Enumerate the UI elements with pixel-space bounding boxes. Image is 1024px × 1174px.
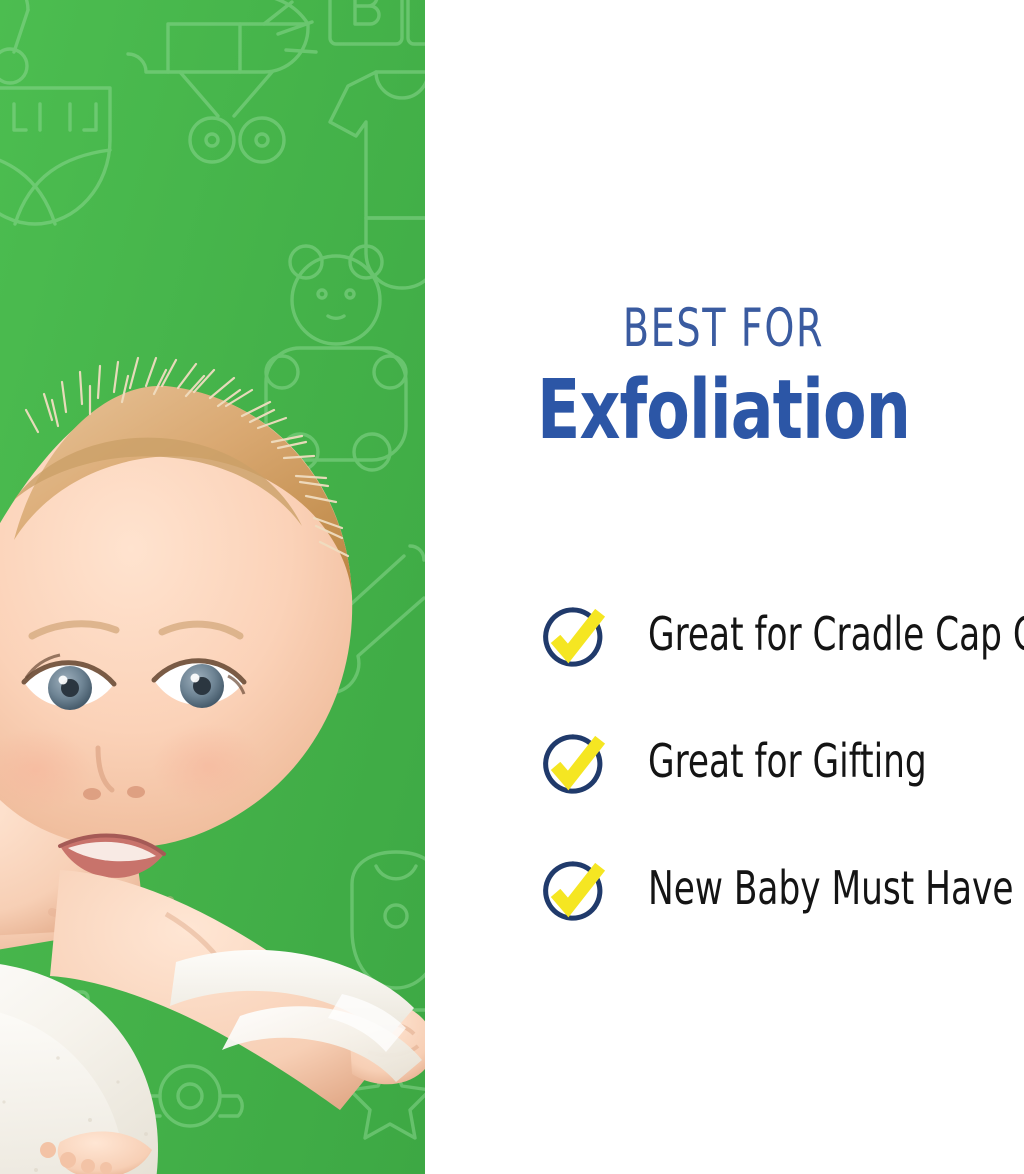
safety-pin-icon [299, 546, 424, 693]
promo-image: BEST FOR Exfoliation Great for Cradle Ca… [0, 0, 1024, 1174]
pacifier-icon [138, 1066, 242, 1126]
headline-kicker: BEST FOR [485, 300, 963, 358]
content-column: BEST FOR Exfoliation Great for Cradle Ca… [425, 0, 1024, 1174]
alphabet-block-b-icon [330, 0, 402, 44]
green-panel [0, 0, 425, 1174]
check-circle-icon [542, 606, 604, 668]
teddy-bear-icon [266, 246, 406, 470]
check-circle-icon [542, 860, 604, 922]
baby-icon-pattern [0, 0, 425, 1174]
list-item: New Baby Must Have [425, 852, 1024, 979]
moon-shape [312, 1044, 348, 1062]
bib-icon [352, 852, 425, 988]
headline-block: BEST FOR Exfoliation [425, 300, 1022, 456]
baby-mobile-icon [298, 988, 425, 1062]
list-item-label: Great for Cradle Cap Care [648, 596, 1024, 672]
page-title: Exfoliation [467, 366, 980, 456]
list-item-label: Great for Gifting [648, 723, 927, 799]
stroller-icon [128, 0, 316, 162]
list-item: Great for Gifting [425, 725, 1024, 852]
rattle-icon [0, 0, 28, 83]
check-circle-icon [542, 733, 604, 795]
list-item: Great for Cradle Cap Care [425, 598, 1024, 725]
list-item-label: New Baby Must Have [648, 850, 1014, 926]
benefit-list: Great for Cradle Cap Care Great for Gift… [425, 598, 1024, 979]
alphabet-block-b-icon [28, 992, 88, 1052]
star-icon [350, 1060, 425, 1138]
alphabet-block-c-icon [408, 0, 425, 44]
diaper-icon [0, 88, 110, 224]
